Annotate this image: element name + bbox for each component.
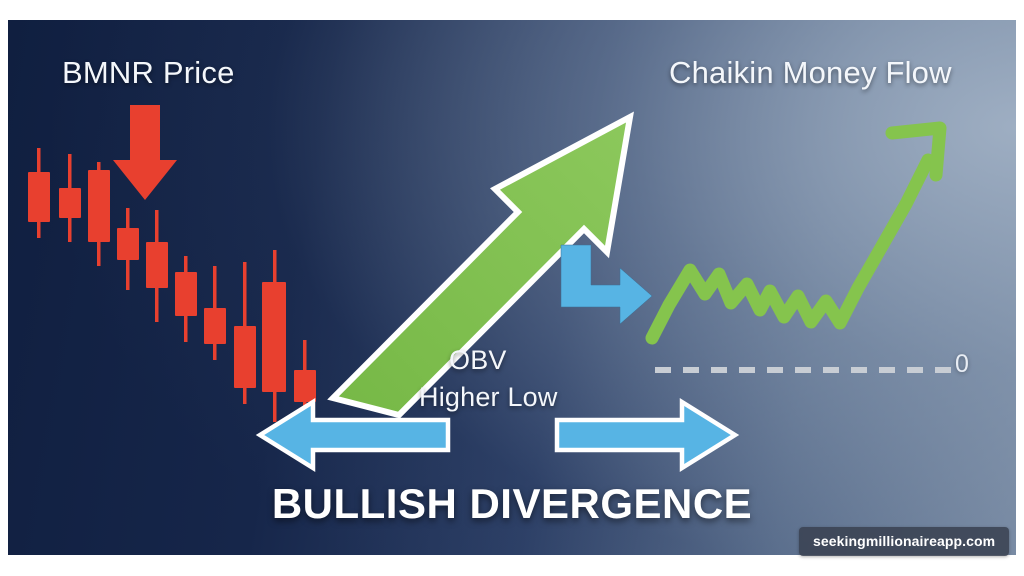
- obv-label-line2: Higher Low: [419, 382, 558, 413]
- main-title: BULLISH DIVERGENCE: [8, 480, 1016, 528]
- infographic-canvas: BMNR Price Chaikin Money Flow OBV Higher…: [0, 0, 1024, 576]
- obv-label-line1: OBV: [449, 345, 507, 376]
- divergence-right-arrow-icon: [557, 402, 735, 468]
- chart-area: BMNR Price Chaikin Money Flow OBV Higher…: [8, 20, 1016, 555]
- zero-level-label: 0: [955, 350, 969, 379]
- divergence-arrows: [8, 20, 1016, 555]
- watermark: seekingmillionaireapp.com: [799, 527, 1009, 556]
- cmf-panel-label: Chaikin Money Flow: [669, 55, 952, 91]
- price-panel-label: BMNR Price: [62, 55, 235, 91]
